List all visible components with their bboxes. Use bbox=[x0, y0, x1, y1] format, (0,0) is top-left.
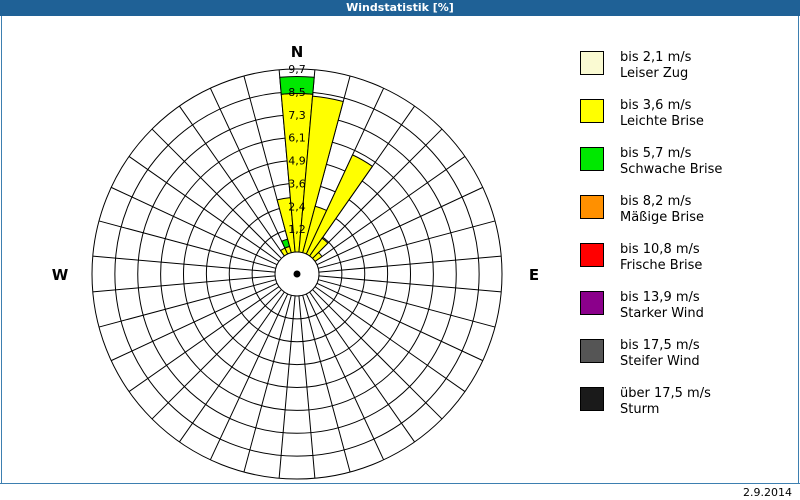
legend-color-swatch bbox=[580, 387, 604, 411]
legend-label: bis 2,1 m/sLeiser Zug bbox=[620, 50, 691, 82]
legend-row[interactable]: bis 10,8 m/sFrische Brise bbox=[580, 242, 790, 282]
grid-spoke bbox=[313, 290, 442, 419]
legend-beaufort-name: Schwache Brise bbox=[620, 162, 722, 178]
legend-speed-range: bis 17,5 m/s bbox=[620, 338, 700, 354]
legend-row[interactable]: bis 2,1 m/sLeiser Zug bbox=[580, 50, 790, 90]
legend-speed-range: über 17,5 m/s bbox=[620, 386, 711, 402]
legend-label: bis 5,7 m/sSchwache Brise bbox=[620, 146, 722, 178]
grid-spoke bbox=[99, 221, 276, 268]
grid-spoke bbox=[303, 295, 350, 472]
grid-spoke bbox=[318, 221, 495, 268]
legend-row[interactable]: bis 8,2 m/sMäßige Brise bbox=[580, 194, 790, 234]
legend-color-swatch bbox=[580, 243, 604, 267]
ring-label: 1,2 bbox=[288, 223, 306, 236]
legend-speed-range: bis 8,2 m/s bbox=[620, 194, 704, 210]
grid-spoke bbox=[318, 280, 495, 327]
legend-speed-range: bis 2,1 m/s bbox=[620, 50, 691, 66]
legend-label: bis 10,8 m/sFrische Brise bbox=[620, 242, 702, 274]
ring-label: 4,9 bbox=[288, 155, 306, 168]
windstatistik-window: Windstatistik [%] 1,22,43,64,96,17,38,59… bbox=[0, 0, 800, 500]
speed-class-legend: bis 2,1 m/sLeiser Zugbis 3,6 m/sLeichte … bbox=[580, 50, 790, 434]
legend-speed-range: bis 10,8 m/s bbox=[620, 242, 702, 258]
legend-color-swatch bbox=[580, 195, 604, 219]
ring-label: 8,5 bbox=[288, 86, 306, 99]
grid-spoke bbox=[313, 129, 442, 258]
compass-label-west: W bbox=[52, 266, 69, 284]
grid-spoke bbox=[152, 129, 281, 258]
legend-label: bis 13,9 m/sStarker Wind bbox=[620, 290, 704, 322]
legend-beaufort-name: Sturm bbox=[620, 402, 711, 418]
legend-label: bis 17,5 m/sSteifer Wind bbox=[620, 338, 700, 370]
ring-label: 9,7 bbox=[288, 63, 306, 76]
legend-color-swatch bbox=[580, 51, 604, 75]
ring-label: 2,4 bbox=[288, 200, 306, 213]
grid-spoke bbox=[210, 88, 287, 254]
status-date-label: 2.9.2014 bbox=[743, 486, 792, 499]
compass-label-east: E bbox=[529, 266, 539, 284]
legend-row[interactable]: über 17,5 m/sSturm bbox=[580, 386, 790, 426]
legend-label: bis 8,2 m/sMäßige Brise bbox=[620, 194, 704, 226]
legend-row[interactable]: bis 13,9 m/sStarker Wind bbox=[580, 290, 790, 330]
wind-rose-svg: 1,22,43,64,96,17,38,59,7 NSEW bbox=[2, 16, 562, 483]
legend-label: über 17,5 m/sSturm bbox=[620, 386, 711, 418]
legend-beaufort-name: Leiser Zug bbox=[620, 66, 691, 82]
wind-rose-chart: 1,22,43,64,96,17,38,59,7 NSEW bbox=[2, 16, 562, 483]
legend-beaufort-name: Steifer Wind bbox=[620, 354, 700, 370]
legend-speed-range: bis 13,9 m/s bbox=[620, 290, 704, 306]
grid-spoke bbox=[317, 283, 483, 360]
grid-spoke bbox=[306, 294, 383, 460]
legend-label: bis 3,6 m/sLeichte Brise bbox=[620, 98, 704, 130]
legend-speed-range: bis 5,7 m/s bbox=[620, 146, 722, 162]
legend-row[interactable]: bis 17,5 m/sSteifer Wind bbox=[580, 338, 790, 378]
grid-spoke bbox=[152, 290, 281, 419]
grid-spoke bbox=[244, 295, 291, 472]
legend-color-swatch bbox=[580, 147, 604, 171]
legend-speed-range: bis 3,6 m/s bbox=[620, 98, 704, 114]
legend-color-swatch bbox=[580, 291, 604, 315]
legend-row[interactable]: bis 3,6 m/sLeichte Brise bbox=[580, 98, 790, 138]
legend-color-swatch bbox=[580, 339, 604, 363]
window-titlebar: Windstatistik [%] bbox=[0, 0, 800, 16]
chart-content-area: 1,22,43,64,96,17,38,59,7 NSEW bis 2,1 m/… bbox=[1, 16, 799, 483]
status-bar: 2.9.2014 bbox=[0, 483, 800, 500]
legend-beaufort-name: Mäßige Brise bbox=[620, 210, 704, 226]
legend-beaufort-name: Starker Wind bbox=[620, 306, 704, 322]
grid-spoke bbox=[111, 283, 277, 360]
legend-row[interactable]: bis 5,7 m/sSchwache Brise bbox=[580, 146, 790, 186]
grid-spoke bbox=[210, 294, 287, 460]
window-title: Windstatistik [%] bbox=[346, 1, 454, 14]
grid-spoke bbox=[99, 280, 276, 327]
compass-label-north: N bbox=[291, 43, 304, 61]
legend-color-swatch bbox=[580, 99, 604, 123]
ring-label: 3,6 bbox=[288, 177, 306, 190]
center-dot bbox=[294, 271, 301, 278]
ring-label: 7,3 bbox=[288, 109, 306, 122]
legend-beaufort-name: Leichte Brise bbox=[620, 114, 704, 130]
grid-spoke bbox=[111, 187, 277, 264]
legend-beaufort-name: Frische Brise bbox=[620, 258, 702, 274]
calm-center-disc bbox=[275, 252, 319, 296]
ring-label: 6,1 bbox=[288, 132, 306, 145]
